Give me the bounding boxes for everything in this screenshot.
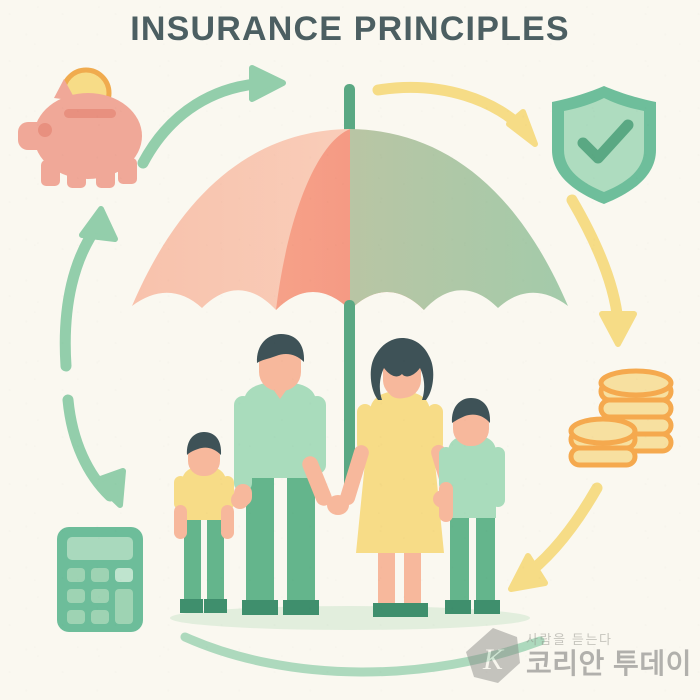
korean-today-logo: K 사람을 듣는다 코리안 투데이 (462, 624, 694, 688)
logo-tagline: 사람을 듣는다 (526, 633, 692, 648)
family-group (0, 0, 700, 700)
family-member-father (234, 334, 334, 615)
family-member-young-child (174, 432, 234, 613)
logo-name: 코리안 투데이 (526, 649, 692, 678)
page-title: INSURANCE PRINCIPLES (0, 10, 700, 49)
infographic-canvas: K 사람을 듣는다 코리안 투데이 INSURANCE PRINCIPLES (0, 0, 700, 700)
logo-text-block: 사람을 듣는다 코리안 투데이 (526, 633, 692, 678)
logo-hexagon-mark-icon: K (462, 625, 524, 687)
logo-mark-letter: K (482, 643, 505, 676)
